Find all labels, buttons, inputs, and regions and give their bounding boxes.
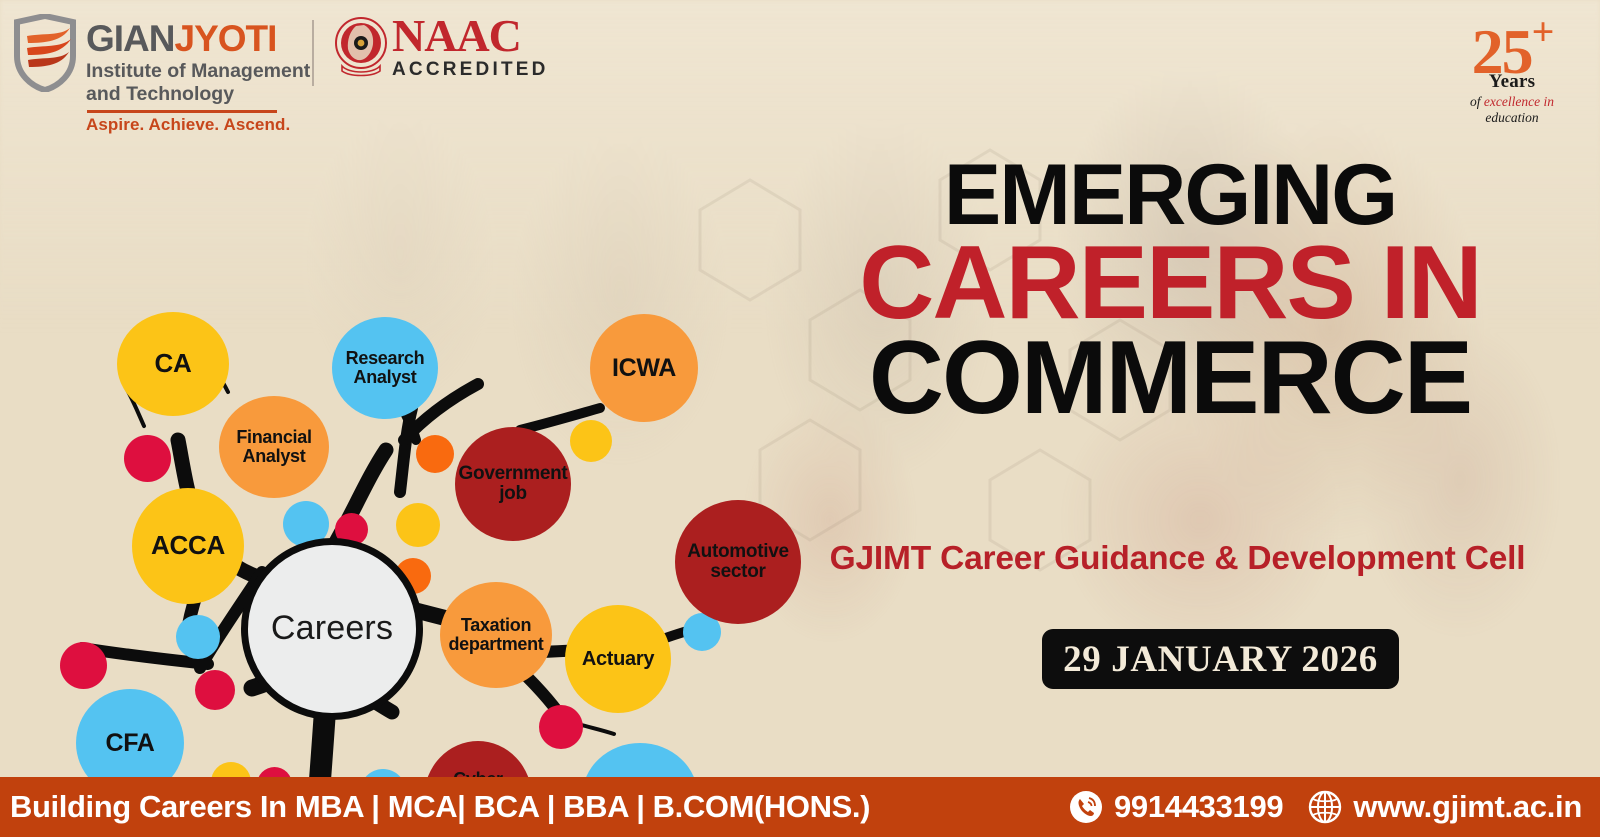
footer-courses-text: Building Careers In MBA | MCA| BCA | BBA… [10,789,870,825]
career-node-label: CFA [105,730,154,756]
career-node-label: Automotive sector [681,542,795,582]
anniversary-plus: + [1532,9,1553,54]
accent-dot [176,615,220,659]
career-node[interactable]: Research Analyst [332,317,438,419]
anniversary-years-label: Years [1446,71,1578,93]
career-node[interactable]: ICWA [590,314,698,422]
career-node[interactable]: Government job [455,427,571,541]
phone-icon [1068,789,1104,825]
naac-seal-icon [332,16,390,78]
anniversary-sub-post: education [1485,110,1538,125]
anniversary-sub-highlight: excellence in [1484,94,1554,109]
career-tree-diagram: CAFinancial AnalystResearch AnalystICWAG… [0,140,820,780]
career-node-label: Government job [459,464,568,504]
anniversary-subtext: of excellence in education [1446,94,1578,125]
accent-dot [60,642,107,689]
naac-wordmark: NAAC [392,14,549,58]
brand-name-part1: GIAN [86,18,175,59]
institute-name-block: GIANJYOTI Institute of Management and Te… [86,14,310,135]
institute-subtitle-line1: Institute of Management [86,60,310,83]
naac-accreditation-logo[interactable]: NAAC ACCREDITED [332,14,549,81]
poster-title: EMERGING CAREERS IN COMMERCE [820,158,1520,425]
accent-dot [396,503,440,547]
footer-contact-group: 9914433199 www.gjimt.ac.in [1068,789,1600,825]
career-node-label: CA [155,350,192,377]
career-node-label: Actuary [582,649,654,670]
page-footer: Building Careers In MBA | MCA| BCA | BBA… [0,777,1600,837]
brand-divider-rule [87,110,277,113]
brand-name-part2: JYOTI [175,18,277,59]
career-node[interactable]: Actuary [565,605,671,713]
career-node[interactable]: ACCA [132,488,244,604]
career-node-label: ICWA [612,355,676,381]
title-line-1: EMERGING [820,158,1520,234]
footer-phone-number: 9914433199 [1114,789,1283,825]
career-node[interactable]: CA [117,312,229,416]
accent-dot [195,670,235,710]
career-node-label: ACCA [151,532,225,559]
footer-phone-item[interactable]: 9914433199 [1068,789,1283,825]
header-vertical-divider [312,20,314,86]
accent-dot [539,705,583,749]
title-line-3: COMMERCE [820,333,1520,425]
footer-website-url: www.gjimt.ac.in [1353,789,1582,825]
globe-icon [1307,789,1343,825]
title-line-2: CAREERS IN [820,238,1520,330]
anniversary-number: 25+ [1446,16,1578,77]
career-node[interactable]: Financial Analyst [219,396,329,498]
naac-accredited-label: ACCREDITED [392,59,549,81]
career-center-label: Careers [271,611,393,647]
event-date-badge: 29 JANUARY 2026 [1042,629,1399,689]
page-header: GIANJYOTI Institute of Management and Te… [0,0,1600,140]
career-node-label: Research Analyst [338,349,432,387]
shield-swoosh-logo-icon [14,14,76,92]
footer-website-item[interactable]: www.gjimt.ac.in [1307,789,1582,825]
accent-dot [570,420,612,462]
naac-text-block: NAAC ACCREDITED [392,14,549,81]
tree-branches-svg [0,140,820,780]
anniversary-sub-pre: of [1470,94,1484,109]
anniversary-badge: 25+ Years of excellence in education [1446,16,1578,125]
poster-canvas: GIANJYOTI Institute of Management and Te… [0,0,1600,837]
career-node-label: Taxation department [446,616,546,654]
career-node[interactable]: Automotive sector [675,500,801,624]
career-center-node[interactable]: Careers [241,538,423,720]
institute-subtitle-line2: and Technology [86,83,310,106]
accent-dot [124,435,171,482]
accent-dot [416,435,454,473]
institute-logo[interactable]: GIANJYOTI Institute of Management and Te… [14,14,310,135]
institute-tagline: Aspire. Achieve. Ascend. [86,115,310,135]
event-subtitle: GJIMT Career Guidance & Development Cell [820,540,1535,578]
event-date: 29 JANUARY 2026 [1063,638,1378,681]
career-node[interactable]: Taxation department [440,582,552,688]
career-node-label: Financial Analyst [225,428,323,466]
